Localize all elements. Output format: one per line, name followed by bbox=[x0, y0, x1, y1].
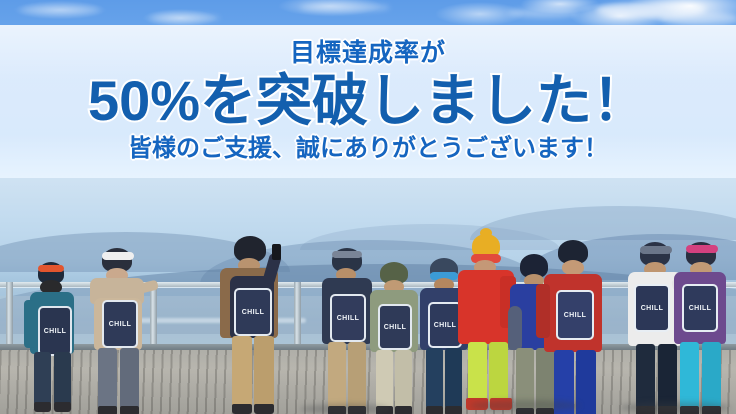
pants-right bbox=[395, 350, 412, 408]
bib-text: CHILL bbox=[434, 322, 457, 329]
pants-right bbox=[348, 342, 366, 408]
bib-text: CHILL bbox=[641, 305, 664, 312]
pants-left bbox=[376, 350, 393, 408]
bib-text: CHILL bbox=[44, 328, 67, 335]
pants-right bbox=[54, 352, 71, 404]
beanie-pompom bbox=[480, 228, 492, 238]
chill-bib: CHILL bbox=[378, 304, 412, 350]
pants-left bbox=[680, 342, 699, 408]
pants-left bbox=[426, 348, 443, 408]
ground-shadow bbox=[300, 404, 390, 414]
pants-right bbox=[702, 342, 721, 408]
chill-bib: CHILL bbox=[330, 294, 366, 342]
goggles bbox=[332, 251, 362, 258]
chill-bib: CHILL bbox=[102, 300, 138, 348]
bib-text: CHILL bbox=[564, 312, 587, 319]
bib-text: CHILL bbox=[337, 315, 360, 322]
ground-shadow bbox=[470, 400, 580, 411]
ground-shadow bbox=[620, 402, 730, 413]
bib-text: CHILL bbox=[689, 305, 712, 312]
pants-right bbox=[120, 348, 139, 408]
pants-left bbox=[232, 336, 252, 406]
kid-figure: CHILL bbox=[84, 248, 154, 414]
pants-left bbox=[636, 344, 655, 408]
bib-text: CHILL bbox=[109, 321, 132, 328]
goggles bbox=[640, 246, 672, 254]
bib-text: CHILL bbox=[384, 324, 407, 331]
chill-bib: CHILL bbox=[234, 288, 272, 336]
kid-figure: CHILL bbox=[24, 262, 80, 412]
arm bbox=[536, 284, 550, 338]
pants-left bbox=[34, 352, 51, 404]
pants-right bbox=[254, 336, 274, 406]
boot bbox=[98, 406, 117, 414]
jacket-arm-pattern bbox=[508, 306, 522, 350]
headline-text-block: 目標達成率が 50%を突破しました！ 皆様のご支援、誠にありがとうございます！ bbox=[0, 25, 736, 178]
headline-main-achievement: 50%を突破しました！ bbox=[88, 70, 648, 133]
campaign-banner: 目標達成率が 50%を突破しました！ 皆様のご支援、誠にありがとうございます！ bbox=[0, 0, 736, 414]
pants-left bbox=[328, 342, 346, 408]
mountain-deck-photo: CHILL CHILL bbox=[0, 178, 736, 414]
kid-figure-cyan-pants: CHILL bbox=[672, 242, 734, 414]
goggles bbox=[102, 252, 134, 260]
boot bbox=[120, 406, 139, 414]
kid-figure-photographer: CHILL bbox=[214, 236, 290, 414]
smartphone bbox=[272, 244, 281, 260]
pants-left bbox=[468, 342, 487, 402]
boot bbox=[395, 406, 412, 414]
chill-bib: CHILL bbox=[38, 306, 72, 356]
chill-bib: CHILL bbox=[682, 284, 718, 332]
boot bbox=[54, 402, 71, 412]
headline-subline-top: 目標達成率が bbox=[290, 40, 446, 68]
headline-thankyou-message: 皆様のご支援、誠にありがとうございます！ bbox=[128, 136, 608, 162]
boot bbox=[232, 404, 252, 414]
pants-left bbox=[98, 348, 117, 408]
boot bbox=[34, 402, 51, 412]
kid-figure: CHILL bbox=[540, 240, 610, 414]
head bbox=[562, 260, 584, 275]
boot bbox=[426, 406, 443, 414]
goggles bbox=[38, 265, 64, 272]
boot bbox=[254, 404, 274, 414]
goggles bbox=[686, 245, 718, 253]
bib-text: CHILL bbox=[242, 309, 265, 316]
pants-right bbox=[489, 342, 508, 402]
chill-bib: CHILL bbox=[634, 284, 670, 332]
chill-bib: CHILL bbox=[556, 290, 594, 340]
arm bbox=[24, 300, 35, 348]
